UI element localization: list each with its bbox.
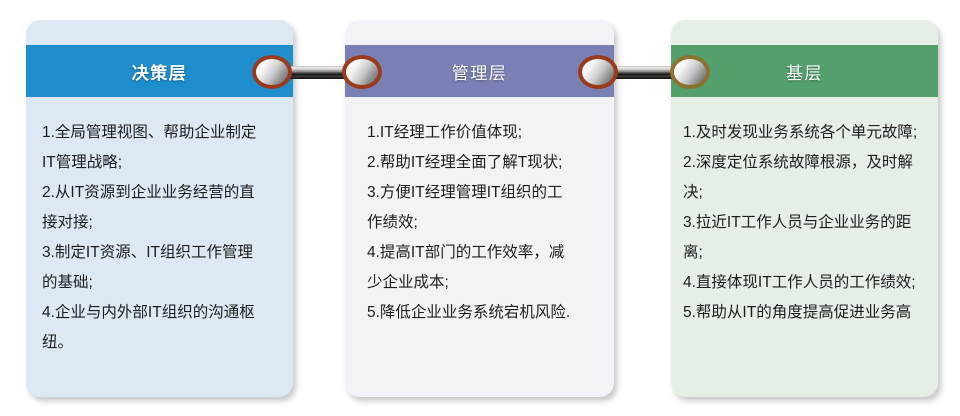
connector-management-to-base: [578, 55, 710, 89]
body-line: 3.制定IT资源、IT组织工作管理: [42, 238, 279, 268]
connector-ring-icon: [342, 55, 382, 89]
body-line: 4.提高IT部门的工作效率，减: [367, 238, 600, 268]
body-line: 接对接;: [42, 208, 279, 238]
body-line: 3.方便IT经理管理IT组织的工: [367, 178, 600, 208]
card-management-layer[interactable]: 管理层 1.IT经理工作价值体现; 2.帮助IT经理全面了解T现状; 3.方便I…: [345, 20, 614, 397]
card-body-base-layer: 1.及时发现业务系统各个单元故障; 2.深度定位系统故障根源，及时解 决; 3.…: [671, 110, 938, 328]
body-line: 5.帮助从IT的角度提高促进业务高: [683, 298, 928, 328]
body-line: 决;: [683, 178, 928, 208]
card-header-base-layer: 基层: [671, 45, 938, 97]
body-line: 3.拉近IT工作人员与企业业务的距: [683, 208, 928, 238]
card-body-decision-layer: 1.全局管理视图、帮助企业制定 IT管理战略; 2.从IT资源到企业业务经营的直…: [26, 110, 293, 358]
diagram-canvas: 决策层 1.全局管理视图、帮助企业制定 IT管理战略; 2.从IT资源到企业业务…: [0, 0, 960, 416]
body-line: 1.全局管理视图、帮助企业制定: [42, 118, 279, 148]
body-line: 4.直接体现IT工作人员的工作绩效;: [683, 268, 928, 298]
body-line: 4.企业与内外部IT组织的沟通枢: [42, 298, 279, 328]
body-line: 2.帮助IT经理全面了解T现状;: [367, 148, 600, 178]
card-header-management-layer: 管理层: [345, 45, 614, 97]
body-line: 少企业成本;: [367, 268, 600, 298]
card-body-management-layer: 1.IT经理工作价值体现; 2.帮助IT经理全面了解T现状; 3.方便IT经理管…: [345, 110, 614, 328]
body-line: 纽。: [42, 328, 279, 358]
connector-ring-icon: [252, 55, 292, 89]
body-line: 2.深度定位系统故障根源，及时解: [683, 148, 928, 178]
body-line: 作绩效;: [367, 208, 600, 238]
card-title-management-layer: 管理层: [452, 59, 508, 84]
body-line: 1.IT经理工作价值体现;: [367, 118, 600, 148]
body-line: 2.从IT资源到企业业务经营的直: [42, 178, 279, 208]
body-line: 的基础;: [42, 268, 279, 298]
card-title-base-layer: 基层: [786, 59, 823, 84]
connector-decision-to-management: [252, 55, 382, 89]
connector-ring-icon: [670, 55, 710, 89]
connector-ring-icon: [578, 55, 618, 89]
body-line: 5.降低企业业务系统宕机风险.: [367, 298, 600, 328]
card-title-decision-layer: 决策层: [132, 59, 188, 84]
body-line: IT管理战略;: [42, 148, 279, 178]
body-line: 离;: [683, 238, 928, 268]
card-base-layer[interactable]: 基层 1.及时发现业务系统各个单元故障; 2.深度定位系统故障根源，及时解 决;…: [671, 20, 938, 397]
body-line: 1.及时发现业务系统各个单元故障;: [683, 118, 928, 148]
